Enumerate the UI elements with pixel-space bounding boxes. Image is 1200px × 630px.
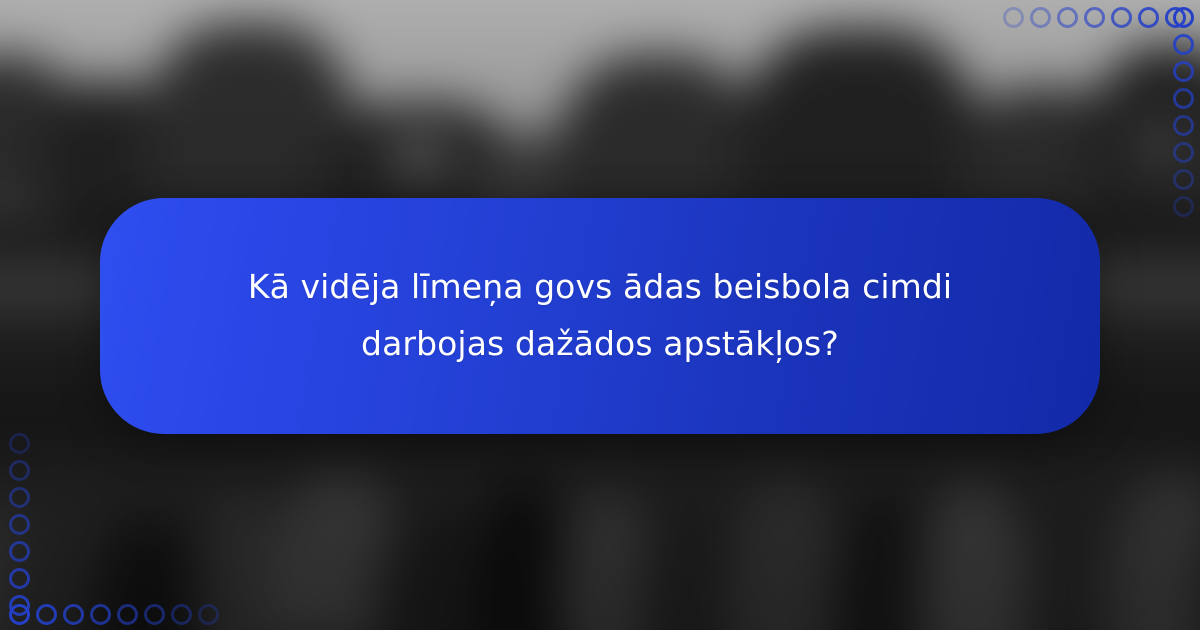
decorative-dot (9, 514, 30, 535)
decorative-dot (117, 604, 138, 625)
decorative-dot (9, 460, 30, 481)
decorative-dot (1084, 7, 1105, 28)
decorative-dot (1173, 169, 1194, 190)
decorative-dot (1111, 7, 1132, 28)
decorative-dot (36, 604, 57, 625)
decorative-dot (198, 604, 219, 625)
decorative-dot (1173, 7, 1194, 28)
decorative-dot (1057, 7, 1078, 28)
question-title: Kā vidēja līmeņa govs ādas beisbola cimd… (230, 259, 970, 373)
decorative-dot (1173, 196, 1194, 217)
decorative-dot (144, 604, 165, 625)
decorative-dot (63, 604, 84, 625)
decorative-dot (171, 604, 192, 625)
decorative-dot (1173, 142, 1194, 163)
question-card: Kā vidēja līmeņa govs ādas beisbola cimd… (100, 198, 1100, 434)
decorative-dot (9, 487, 30, 508)
share-card-canvas: Kā vidēja līmeņa govs ādas beisbola cimd… (0, 0, 1200, 630)
decorative-dot (1173, 115, 1194, 136)
decorative-dot (90, 604, 111, 625)
decorative-dot (1003, 7, 1024, 28)
decorative-dot (9, 568, 30, 589)
decorative-dot (1030, 7, 1051, 28)
decorative-dot (1173, 61, 1194, 82)
decorative-dot (9, 604, 30, 625)
decorative-dots-bottom-left (0, 400, 400, 630)
decorative-dot (9, 433, 30, 454)
decorative-dot (1173, 88, 1194, 109)
decorative-dot (9, 541, 30, 562)
decorative-dot (1138, 7, 1159, 28)
decorative-dot (1173, 34, 1194, 55)
